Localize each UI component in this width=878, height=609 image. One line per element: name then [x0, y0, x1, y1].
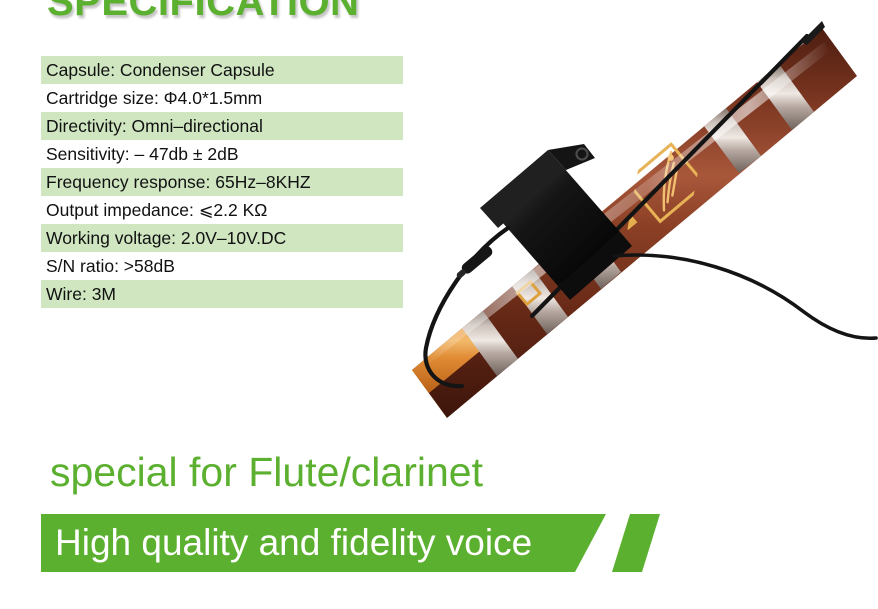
flute-microphone-illustration [352, 18, 878, 430]
product-photo [352, 18, 878, 430]
cable-connector [454, 244, 495, 281]
barrel-gloss [422, 42, 830, 365]
spec-row-sensitivity: Sensitivity: – 47db ± 2dB [41, 140, 403, 168]
page-title: SPECIFICATION [47, 0, 359, 25]
tagline: special for Flute/clarinet [50, 449, 483, 496]
flute-barrel [382, 28, 857, 418]
spec-row-working-voltage: Working voltage: 2.0V–10V.DC [41, 224, 403, 252]
spec-row-cartridge-size: Cartridge size: Φ4.0*1.5mm [41, 84, 403, 112]
spec-row-wire: Wire: 3M [41, 280, 403, 308]
spec-row-sn-ratio: S/N ratio: >58dB [41, 252, 403, 280]
spec-row-frequency-response: Frequency response: 65Hz–8KHZ [41, 168, 403, 196]
spec-row-output-impedance: Output impedance: ⩽2.2 KΩ [41, 196, 403, 224]
spec-row-directivity: Directivity: Omni–directional [41, 112, 403, 140]
banner-label: High quality and fidelity voice [55, 514, 532, 572]
spec-row-capsule: Capsule: Condenser Capsule [41, 56, 403, 84]
cable-output-right [614, 255, 876, 338]
specification-list: Capsule: Condenser Capsule Cartridge siz… [41, 56, 403, 308]
banner-accent-stripe [612, 514, 660, 572]
feature-banner: High quality and fidelity voice [41, 514, 661, 572]
